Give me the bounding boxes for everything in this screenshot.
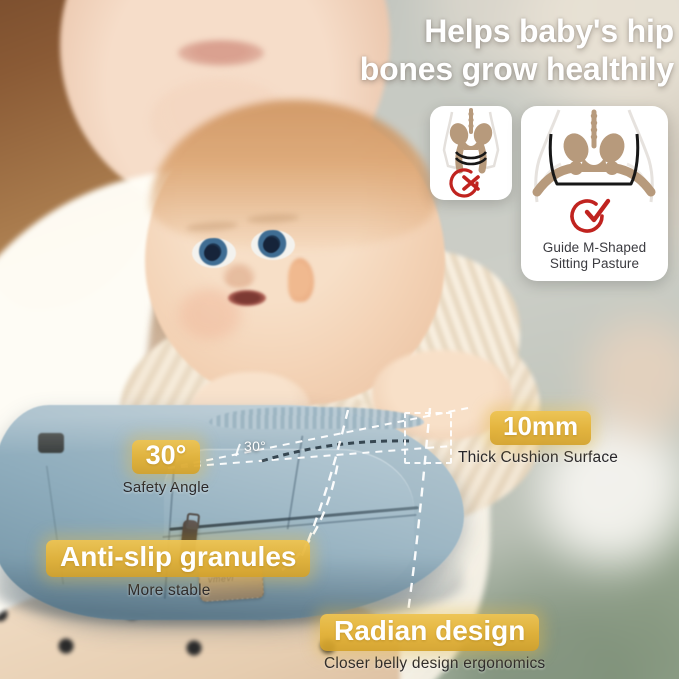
red-check-icon — [572, 201, 608, 231]
radian-design-sub: Closer belly design ergonomics — [324, 655, 660, 673]
baby-eye-right — [251, 230, 295, 260]
radian-design-badge: Radian design — [320, 614, 539, 651]
correct-posture-caption: Guide M-Shaped Sitting Pasture — [521, 240, 668, 272]
anti-slip-sub: More stable — [46, 582, 292, 600]
caption-line-2: Sitting Pasture — [521, 256, 668, 272]
safety-angle-sub: Safety Angle — [106, 479, 226, 496]
baby-ear — [288, 258, 314, 302]
thick-cushion-sub: Thick Cushion Surface — [458, 449, 679, 467]
cushion-thickness-marker — [404, 412, 452, 464]
red-cross-icon — [451, 170, 478, 196]
feature-radian-design: Radian design Closer belly design ergono… — [320, 614, 660, 673]
feature-safety-angle: 30° Safety Angle — [106, 440, 226, 496]
product-feature-poster: vmevi 30° Helps baby's hip bones grow he… — [0, 0, 679, 679]
incorrect-posture-card — [430, 106, 512, 200]
correct-posture-card: Guide M-Shaped Sitting Pasture — [521, 106, 668, 281]
baby-hip-seat-carrier: vmevi — [0, 405, 464, 635]
carrier-strap-buckle — [38, 433, 64, 453]
safety-angle-badge: 30° — [132, 440, 201, 474]
page-title: Helps baby's hip bones grow healthily — [276, 12, 674, 88]
m-shaped-pelvis-icon — [521, 106, 668, 238]
anti-slip-badge: Anti-slip granules — [46, 540, 310, 577]
caption-line-1: Guide M-Shaped — [521, 240, 668, 256]
carrier-top-stitching — [209, 407, 424, 429]
baby-nose — [222, 262, 256, 288]
mother-lips — [178, 40, 264, 66]
headline-line-1: Helps baby's hip — [424, 13, 674, 49]
headline-line-2: bones grow healthily — [276, 50, 674, 88]
feature-anti-slip: Anti-slip granules More stable — [46, 540, 346, 600]
angle-value-label: 30° — [244, 438, 266, 454]
baby-mouth — [228, 290, 266, 306]
feature-thick-cushion: 10mm Thick Cushion Surface — [490, 411, 679, 467]
thick-cushion-badge: 10mm — [490, 411, 591, 445]
narrow-sitting-pelvis-icon — [430, 106, 512, 200]
